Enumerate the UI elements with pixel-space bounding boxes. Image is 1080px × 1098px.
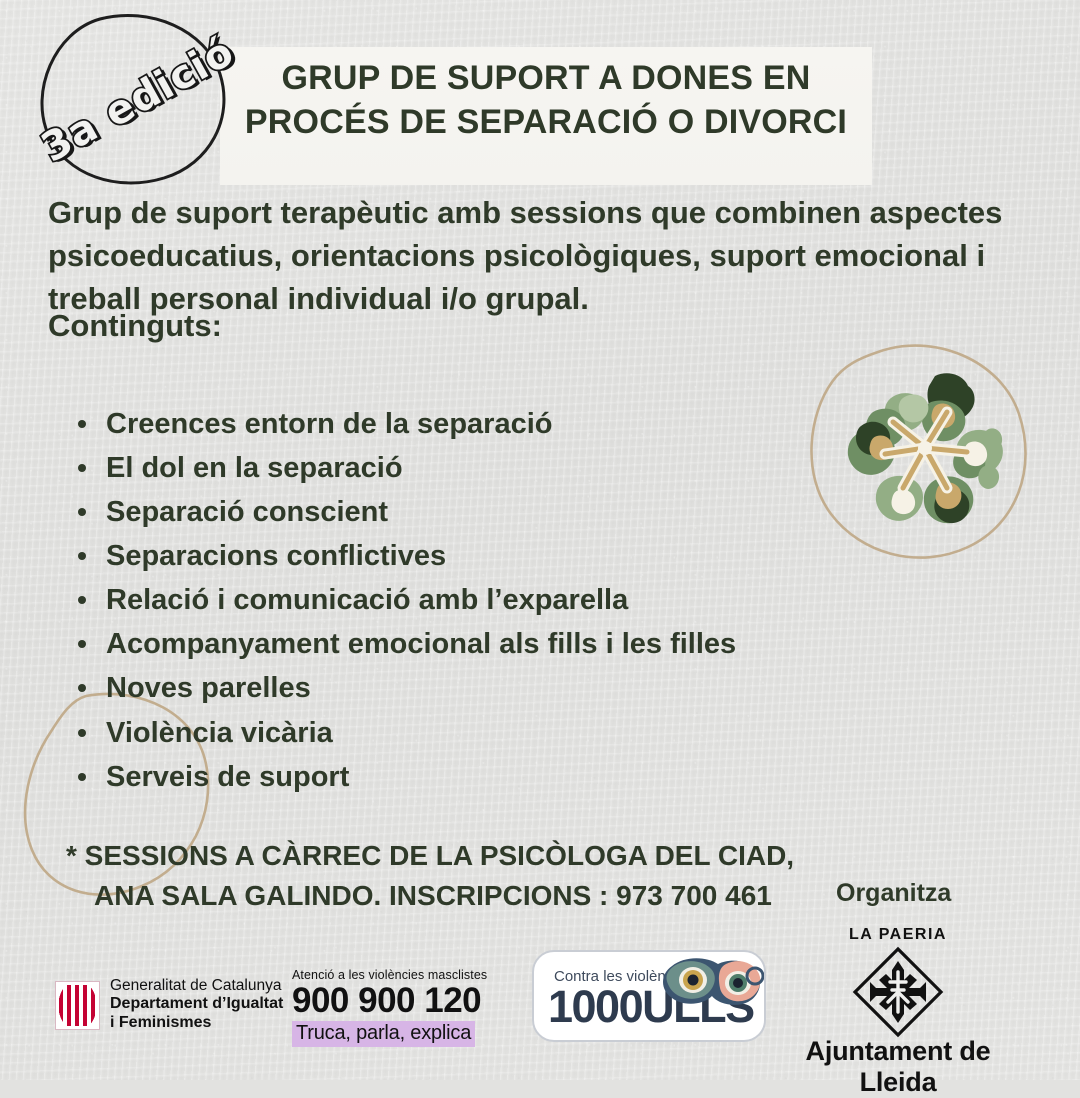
logo-helpline: Atenció a les violències masclistes 900 …: [292, 968, 487, 1047]
la-paeria-label: LA PAERIA: [764, 926, 1032, 944]
generalitat-line3: i Feminismes: [110, 1014, 283, 1033]
logo-1000-ulls: Contra les violències 1000ULLS: [532, 950, 766, 1042]
organizer-label: Organitza: [836, 879, 951, 908]
generalitat-line1: Generalitat de Catalunya: [110, 977, 283, 995]
generalitat-text: Generalitat de Catalunya Departament d’I…: [110, 977, 283, 1033]
la-paeria-crest-icon: [852, 946, 944, 1038]
page-title-line1: GRUP DE SUPORT A DONES EN: [224, 56, 868, 100]
page-title: GRUP DE SUPORT A DONES EN PROCÉS DE SEPA…: [224, 56, 868, 144]
eyes-icon: [656, 956, 766, 1012]
list-item: Noves parelles: [70, 666, 890, 710]
contents-list: Creences entorn de la separació El dol e…: [70, 402, 890, 799]
generalitat-shield-icon: [55, 981, 100, 1030]
list-item: Relació i comunicació amb l’exparella: [70, 578, 890, 622]
list-item: Serveis de suport: [70, 755, 890, 799]
helpline-tagline: Truca, parla, explica: [292, 1021, 475, 1047]
helpline-number: 900 900 120: [292, 983, 487, 1019]
list-item: Separacions conflictives: [70, 534, 890, 578]
generalitat-line2: Departament d’Igualtat: [110, 995, 283, 1014]
page-title-line2: PROCÉS DE SEPARACIÓ O DIVORCI: [224, 100, 868, 144]
helpline-caption: Atenció a les violències masclistes: [292, 968, 487, 982]
logo-ajuntament-lleida: LA PAERIA Ajuntament de Lleida: [764, 926, 1032, 1098]
intro-paragraph: Grup de suport terapèutic amb sessions q…: [48, 192, 1048, 320]
list-item: Violència vicària: [70, 711, 890, 755]
list-item: Separació conscient: [70, 490, 890, 534]
list-item: Acompanyament emocional als fills i les …: [70, 622, 890, 666]
session-note-line1: * SESSIONS A CÀRREC DE LA PSICÒLOGA DEL …: [66, 836, 996, 876]
edition-badge: 3a edició: [38, 12, 238, 187]
ajuntament-lleida-label: Ajuntament de Lleida: [764, 1036, 1032, 1098]
logo-generalitat-catalunya: Generalitat de Catalunya Departament d’I…: [55, 977, 283, 1033]
list-item: Creences entorn de la separació: [70, 402, 890, 446]
list-item: El dol en la separació: [70, 446, 890, 490]
intro-line-2: psicoeducatius, orientacions psicològiqu…: [48, 235, 1048, 278]
intro-line-1: Grup de suport terapèutic amb sessions q…: [48, 192, 1048, 235]
contents-label: Continguts:: [48, 308, 222, 344]
